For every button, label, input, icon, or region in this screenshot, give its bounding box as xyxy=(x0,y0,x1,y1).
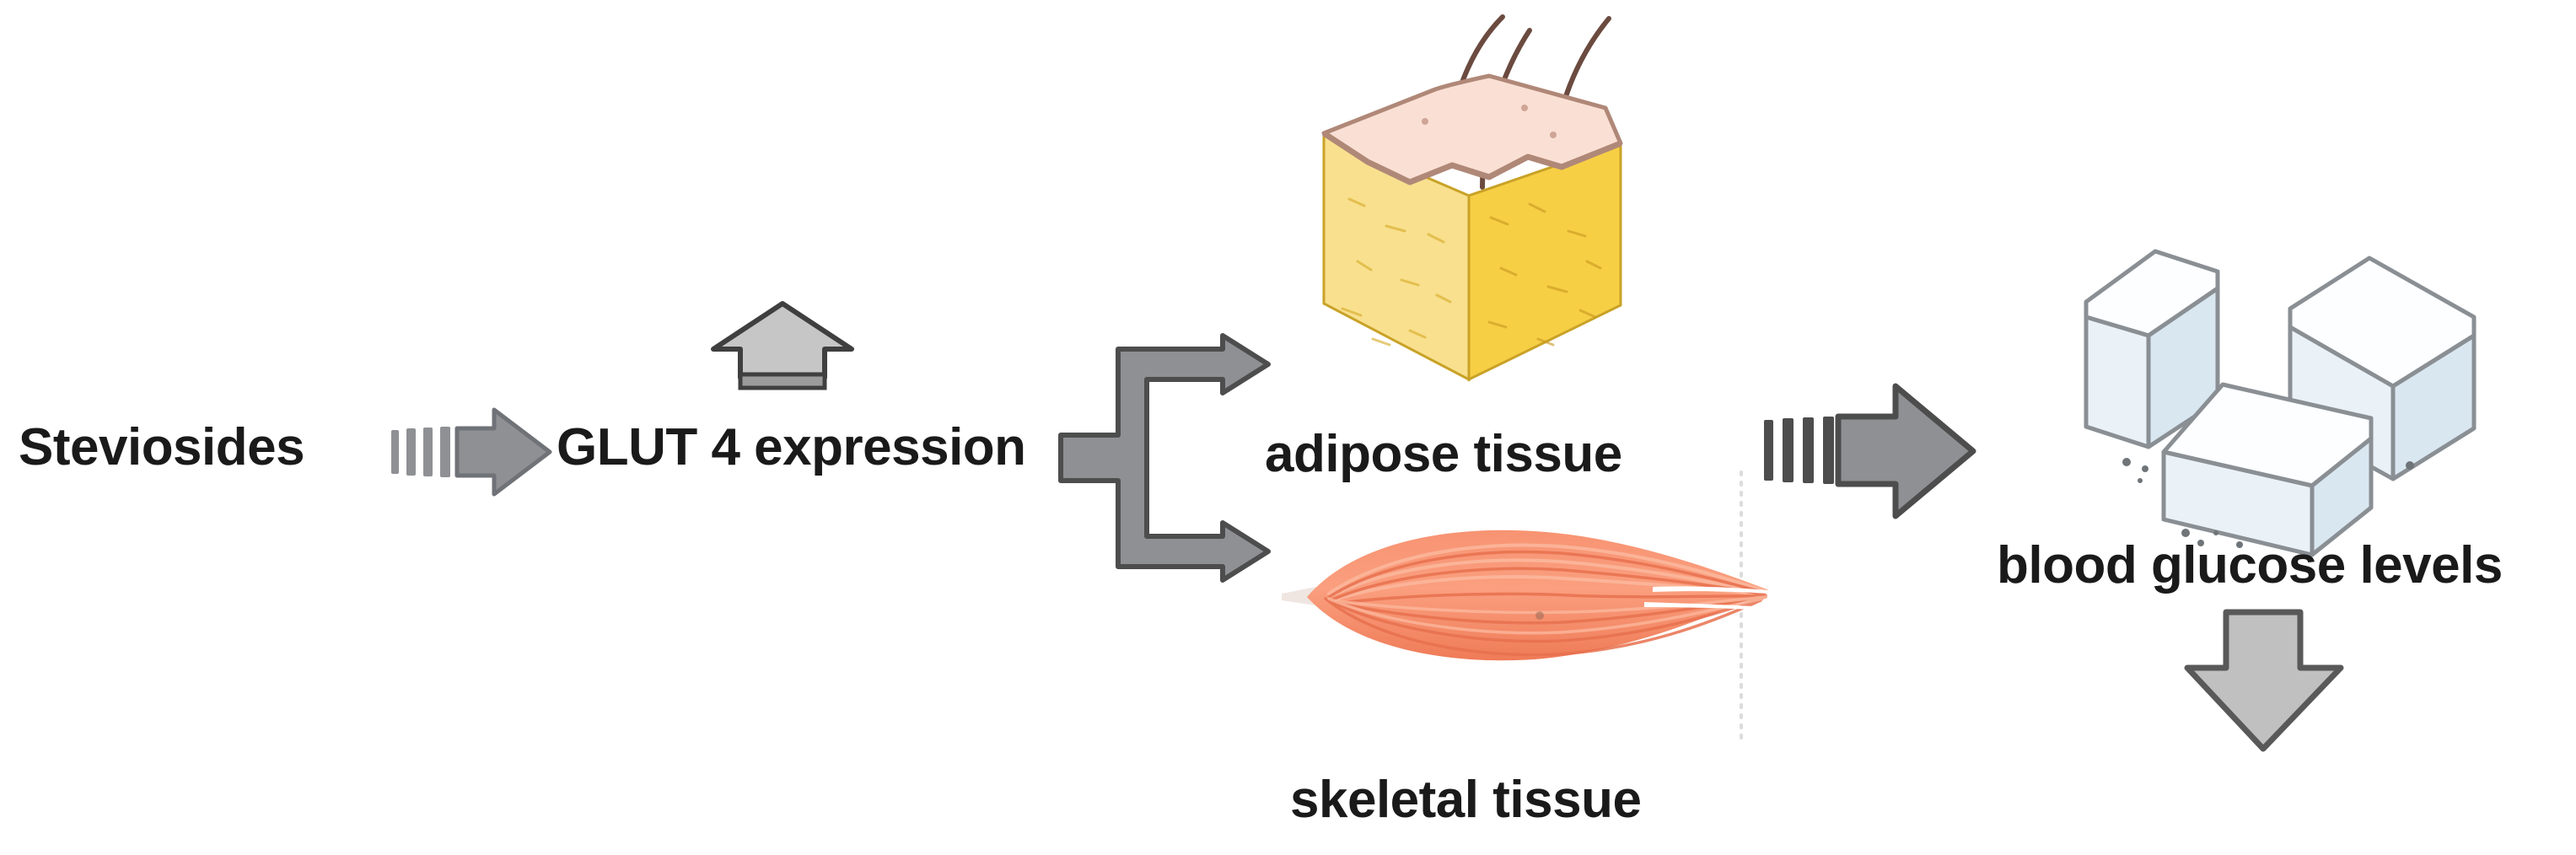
label-blood-glucose-levels: blood glucose levels xyxy=(1997,540,2503,592)
label-skeletal-tissue: skeletal tissue xyxy=(1290,774,1641,826)
arrow-up-increase-icon xyxy=(707,297,858,398)
arrow-right-striped-icon-2 xyxy=(1762,379,1982,523)
label-glut4-expression: GLUT 4 expression xyxy=(557,422,1026,474)
arrow-fork-split-icon xyxy=(1061,336,1280,580)
adipose-tissue-block-icon xyxy=(1309,8,1680,413)
label-adipose-tissue: adipose tissue xyxy=(1265,428,1622,481)
diagram-canvas: Steviosides GLUT 4 expression xyxy=(0,0,2576,855)
label-steviosides: Steviosides xyxy=(19,422,304,474)
skeletal-muscle-icon xyxy=(1282,513,1771,681)
sugar-cubes-icon xyxy=(2074,236,2496,573)
arrow-down-decrease-icon xyxy=(2181,604,2349,756)
arrow-right-striped-icon xyxy=(388,403,557,503)
